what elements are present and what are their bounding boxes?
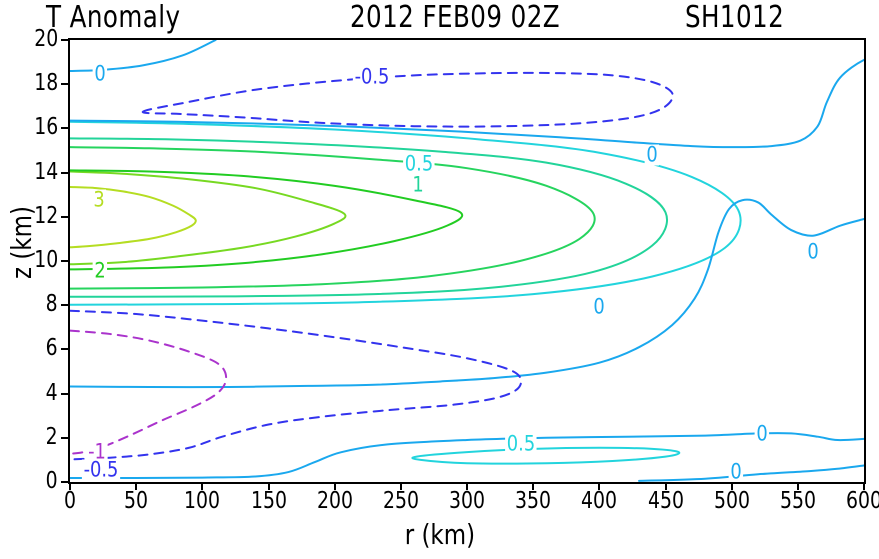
x-tick-label: 100 [170, 490, 236, 513]
contour-line-3 [70, 187, 196, 247]
x-axis-title-text: r (km) [404, 520, 474, 550]
contour-line-0-lower [70, 433, 864, 478]
x-tick-label: 0 [37, 490, 103, 513]
title-datetime: 2012 FEB09 02Z [350, 2, 560, 34]
contour-label: 1 [411, 175, 426, 196]
contour-line--0.5-top [143, 73, 673, 127]
y-tick-mark [61, 437, 68, 439]
y-tick-mark [61, 172, 68, 174]
contour-label: -0.5 [353, 67, 391, 88]
contour-label: 0.5 [403, 154, 435, 175]
y-tick-mark [61, 216, 68, 218]
contour-line-0-main-upper [70, 40, 864, 147]
contour-line--1 [70, 331, 226, 454]
contour-label: 0 [806, 242, 821, 263]
title-variable: T Anomaly [46, 2, 180, 34]
contour-line-0-bottom-strip [639, 465, 864, 480]
y-tick-label: 2 [46, 426, 58, 449]
y-tick-mark [61, 83, 68, 85]
contour-label: 0 [755, 424, 770, 445]
y-tick-mark [61, 127, 68, 129]
x-tick-label: 600 [831, 490, 879, 513]
x-tick-label: 200 [302, 490, 368, 513]
y-tick-label-wrap: 6 [0, 337, 58, 360]
y-tick-label: 18 [34, 72, 58, 95]
y-axis-title-text: z (km) [7, 207, 37, 280]
y-tick-label-wrap: 2 [0, 426, 58, 449]
contour-line-2 [70, 170, 462, 269]
contour-line-2.5 [70, 172, 345, 265]
x-tick-label: 550 [765, 490, 831, 513]
x-tick-label: 500 [699, 490, 765, 513]
y-tick-mark [61, 481, 68, 483]
contour-label: 0 [592, 297, 607, 318]
contour-line-0.5-lower-blob [412, 448, 679, 464]
y-tick-label: 6 [46, 337, 58, 360]
contour-label: 2 [93, 261, 108, 282]
contour-lines [70, 40, 864, 482]
contour-label: 0.5 [505, 434, 537, 455]
contour-label: 0 [645, 145, 660, 166]
contour-plot-figure: T Anomaly 2012 FEB09 02Z SH1012 02468101… [0, 0, 879, 559]
y-tick-label-wrap: 20 [0, 28, 58, 51]
contour-label: 3 [92, 190, 107, 211]
x-tick-label: 400 [567, 490, 633, 513]
plot-canvas: 0-0.50.5132000-1-0.50.500 [70, 40, 864, 482]
y-tick-mark [61, 260, 68, 262]
y-tick-label: 16 [34, 116, 58, 139]
y-tick-mark [61, 393, 68, 395]
y-tick-label: 8 [46, 293, 58, 316]
x-tick-label: 300 [434, 490, 500, 513]
y-tick-label: 4 [46, 382, 58, 405]
x-tick-label: 350 [500, 490, 566, 513]
y-tick-label-wrap: 14 [0, 161, 58, 184]
title-storm-id: SH1012 [685, 2, 784, 34]
plot-frame: 0-0.50.5132000-1-0.50.500 [68, 38, 866, 484]
contour-label: 0 [93, 64, 108, 85]
y-axis-title: z (km) [7, 183, 37, 303]
y-tick-label: 14 [34, 161, 58, 184]
contour-label: -0.5 [82, 460, 120, 481]
x-tick-label: 450 [633, 490, 699, 513]
x-tick-label: 250 [368, 490, 434, 513]
contour-label: 0 [729, 462, 744, 483]
x-tick-label: 150 [236, 490, 302, 513]
y-tick-label-wrap: 16 [0, 116, 58, 139]
x-tick-label: 50 [103, 490, 169, 513]
y-tick-label-wrap: 18 [0, 72, 58, 95]
y-tick-mark [61, 348, 68, 350]
figure-title: T Anomaly 2012 FEB09 02Z SH1012 [0, 0, 879, 36]
x-axis-title: r (km) [0, 520, 879, 550]
y-tick-label: 20 [34, 28, 58, 51]
contour-line-1 [70, 138, 667, 296]
y-tick-mark [61, 39, 68, 41]
y-tick-mark [61, 304, 68, 306]
y-tick-label-wrap: 4 [0, 382, 58, 405]
